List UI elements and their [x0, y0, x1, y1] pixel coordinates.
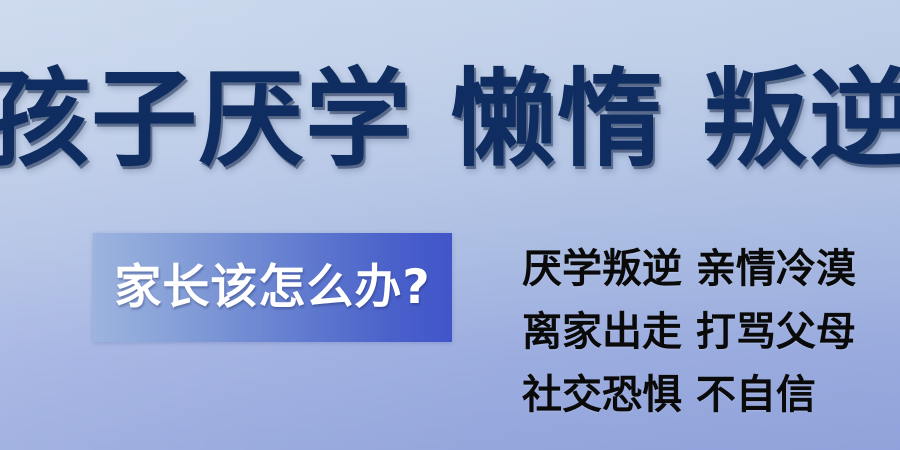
symptom-line: 离家出走 打骂父母 [522, 301, 862, 364]
symptom-list: 厌学叛逆 亲情冷漠 离家出走 打骂父母 社交恐惧 不自信 [522, 238, 862, 427]
headline-text: 孩子厌学 懒惰 叛逆 [0, 67, 900, 173]
symptom-line: 厌学叛逆 亲情冷漠 [522, 238, 862, 301]
headline-banner: 孩子厌学 懒惰 叛逆 [0, 52, 900, 187]
poster-canvas: 孩子厌学 懒惰 叛逆 家长该怎么办? 厌学叛逆 亲情冷漠 离家出走 打骂父母 社… [0, 0, 900, 450]
question-badge: 家长该怎么办? [93, 233, 452, 342]
question-badge-label: 家长该怎么办? [114, 264, 430, 311]
symptom-line: 社交恐惧 不自信 [522, 364, 862, 427]
